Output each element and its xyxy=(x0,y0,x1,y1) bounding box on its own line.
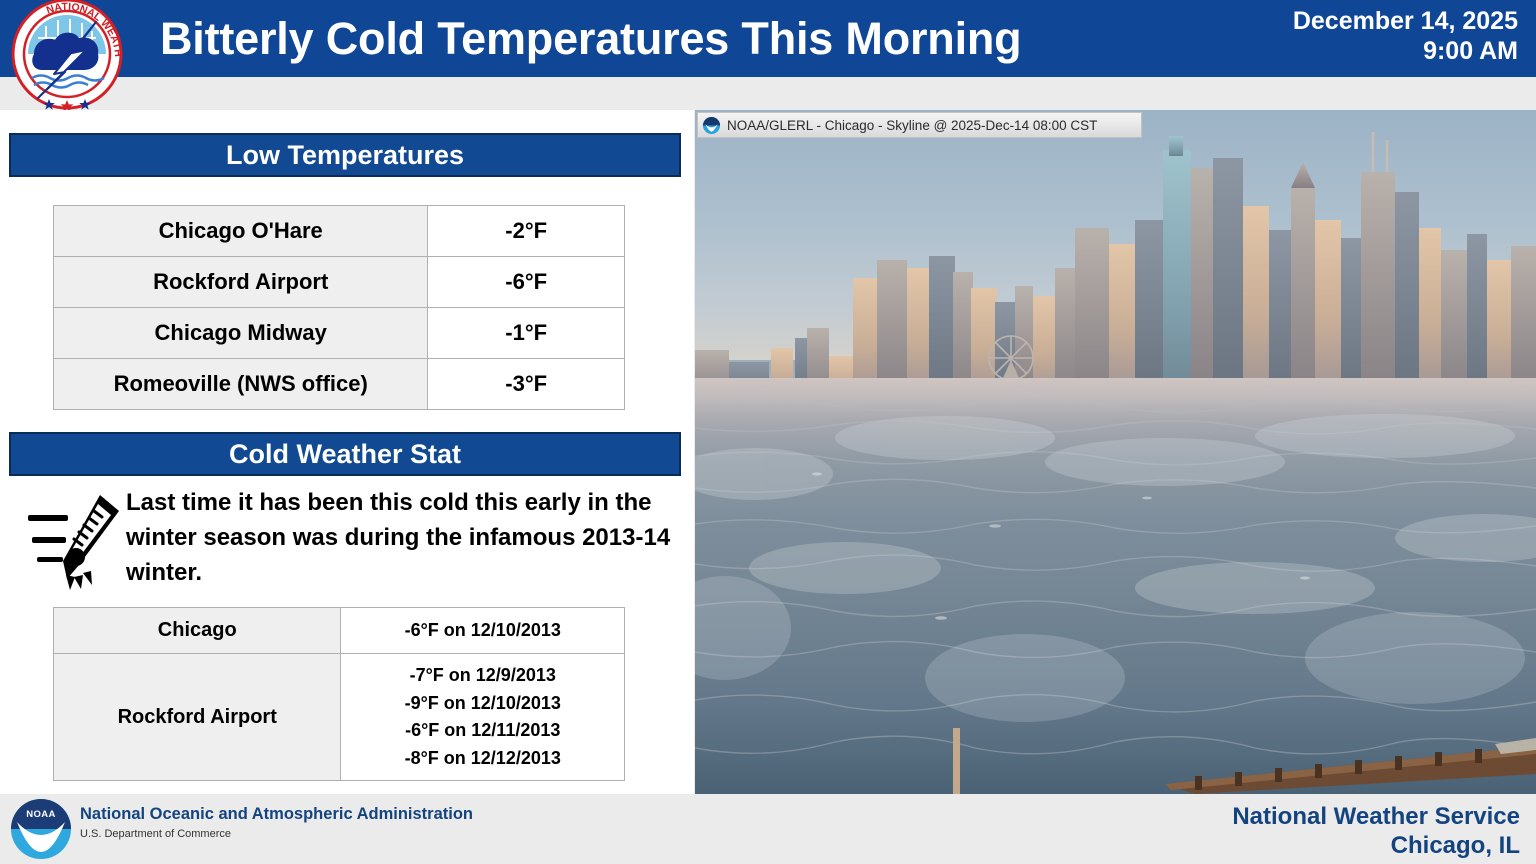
low-temp-location: Romeoville (NWS office) xyxy=(54,359,428,410)
low-temp-value: -3°F xyxy=(428,359,625,410)
cold-weather-stat-block: Last time it has been this cold this ear… xyxy=(18,485,683,595)
low-temp-value: -2°F xyxy=(428,206,625,257)
low-temp-value: -6°F xyxy=(428,257,625,308)
noaa-icon xyxy=(702,116,721,135)
cold-weather-stat-text: Last time it has been this cold this ear… xyxy=(126,485,674,590)
webcam-caption-bar: NOAA/GLERL - Chicago - Skyline @ 2025-De… xyxy=(697,112,1142,138)
section-header-low-temperatures: Low Temperatures xyxy=(9,133,681,177)
low-temp-value: -1°F xyxy=(428,308,625,359)
record-location: Chicago xyxy=(54,608,341,654)
noaa-department: U.S. Department of Commerce xyxy=(80,828,500,840)
low-temp-location: Chicago O'Hare xyxy=(54,206,428,257)
table-row: Romeoville (NWS office) -3°F xyxy=(54,359,625,410)
low-temp-location: Rockford Airport xyxy=(54,257,428,308)
office-branding: National Weather Service Chicago, IL xyxy=(1100,802,1520,860)
section-header-cold-weather-stat: Cold Weather Stat xyxy=(9,432,681,476)
header-time: 9:00 AM xyxy=(1158,36,1518,66)
table-row: Rockford Airport -6°F xyxy=(54,257,625,308)
historical-records-table: Chicago -6°F on 12/10/2013 Rockford Airp… xyxy=(53,607,625,781)
record-location: Rockford Airport xyxy=(54,654,341,781)
table-row: Chicago Midway -1°F xyxy=(54,308,625,359)
webcam-photo: NOAA/GLERL - Chicago - Skyline @ 2025-De… xyxy=(695,110,1536,794)
nws-seal-icon: NATIONAL WEATHER SERVICE xyxy=(8,0,126,110)
noaa-branding: National Oceanic and Atmospheric Adminis… xyxy=(80,804,500,840)
office-name: National Weather Service xyxy=(1100,802,1520,831)
low-temperatures-table: Chicago O'Hare -2°F Rockford Airport -6°… xyxy=(53,205,625,410)
header-gray-band xyxy=(0,77,1536,110)
svg-text:NOAA: NOAA xyxy=(26,809,56,820)
record-values: -7°F on 12/9/2013 -9°F on 12/10/2013 -6°… xyxy=(341,654,625,781)
breakwater-pier xyxy=(695,710,1536,794)
footer-bar: NOAA National Oceanic and Atmospheric Ad… xyxy=(0,794,1536,864)
table-row: Chicago -6°F on 12/10/2013 xyxy=(54,608,625,654)
office-location: Chicago, IL xyxy=(1100,831,1520,860)
header-bar: Bitterly Cold Temperatures This Morning … xyxy=(0,0,1536,77)
table-row: Chicago O'Hare -2°F xyxy=(54,206,625,257)
chicago-skyline-silhouette xyxy=(695,110,1536,400)
webcam-caption-text: NOAA/GLERL - Chicago - Skyline @ 2025-De… xyxy=(727,118,1097,133)
noaa-agency-name: National Oceanic and Atmospheric Adminis… xyxy=(80,804,500,824)
table-row: Rockford Airport -7°F on 12/9/2013 -9°F … xyxy=(54,654,625,781)
record-values: -6°F on 12/10/2013 xyxy=(341,608,625,654)
weather-graphic-page: Bitterly Cold Temperatures This Morning … xyxy=(0,0,1536,864)
low-temp-location: Chicago Midway xyxy=(54,308,428,359)
thermometer-icon xyxy=(26,489,126,591)
header-date: December 14, 2025 xyxy=(1158,6,1518,36)
noaa-seal-icon: NOAA xyxy=(10,798,72,860)
page-title: Bitterly Cold Temperatures This Morning xyxy=(160,6,1140,72)
header-datetime: December 14, 2025 9:00 AM xyxy=(1158,6,1518,66)
